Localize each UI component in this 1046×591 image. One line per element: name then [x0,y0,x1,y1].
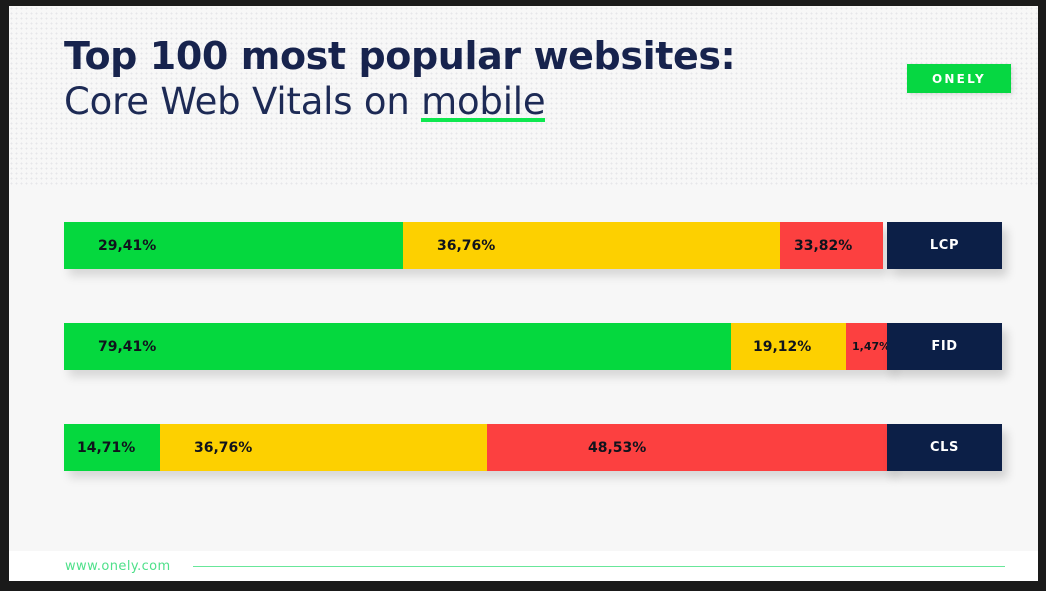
metric-chip-fid[interactable]: FID [887,323,1002,370]
footer-website-url[interactable]: www.onely.com [65,559,171,574]
bar-label-cls-poor: 48,53% [487,440,646,456]
bar-label-cls-needs-improvement: 36,76% [160,440,252,456]
metric-chip-lcp[interactable]: LCP [887,222,1002,269]
metric-chip-label-cls: CLS [930,440,959,455]
metric-chip-cls[interactable]: CLS [887,424,1002,471]
bar-segment-lcp-poor[interactable]: 33,82% [780,222,883,269]
metric-chip-label-lcp: LCP [930,238,959,253]
chart-row-fid: 79,41% 19,12% 1,47% FID [64,323,994,370]
bar-segment-fid-needs-improvement[interactable]: 19,12% [731,323,846,370]
footer-bar: www.onely.com [9,551,1038,581]
bar-segment-cls-good[interactable]: 14,71% [64,424,160,471]
bar-label-lcp-good: 29,41% [64,238,156,254]
bar-label-fid-needs-improvement: 19,12% [731,339,811,355]
metric-chip-label-fid: FID [931,339,957,354]
bar-label-fid-poor: 1,47% [846,340,890,353]
bar-segment-cls-needs-improvement[interactable]: 36,76% [160,424,487,471]
chart-row-lcp: 29,41% 36,76% 33,82% LCP [64,222,994,269]
bar-segment-cls-poor[interactable]: 48,53% [487,424,891,471]
chart-row-cls: 14,71% 36,76% 48,53% CLS [64,424,994,471]
bar-segment-lcp-needs-improvement[interactable]: 36,76% [403,222,780,269]
bar-track-lcp: 29,41% 36,76% 33,82% [64,222,883,269]
bar-label-lcp-needs-improvement: 36,76% [403,238,495,254]
bar-track-cls: 14,71% 36,76% 48,53% [64,424,891,471]
bar-label-fid-good: 79,41% [64,339,156,355]
bar-label-lcp-poor: 33,82% [780,238,852,254]
bar-segment-fid-poor[interactable]: 1,47% [846,323,891,370]
bar-segment-fid-good[interactable]: 79,41% [64,323,731,370]
core-web-vitals-stacked-bar-chart: 29,41% 36,76% 33,82% LCP 79,41% 19,1 [9,6,1038,581]
bar-segment-lcp-good[interactable]: 29,41% [64,222,403,269]
slide-canvas: Top 100 most popular websites: Core Web … [9,6,1038,581]
bar-track-fid: 79,41% 19,12% 1,47% [64,323,891,370]
footer-divider-line [193,566,1005,567]
bar-label-cls-good: 14,71% [64,440,135,456]
